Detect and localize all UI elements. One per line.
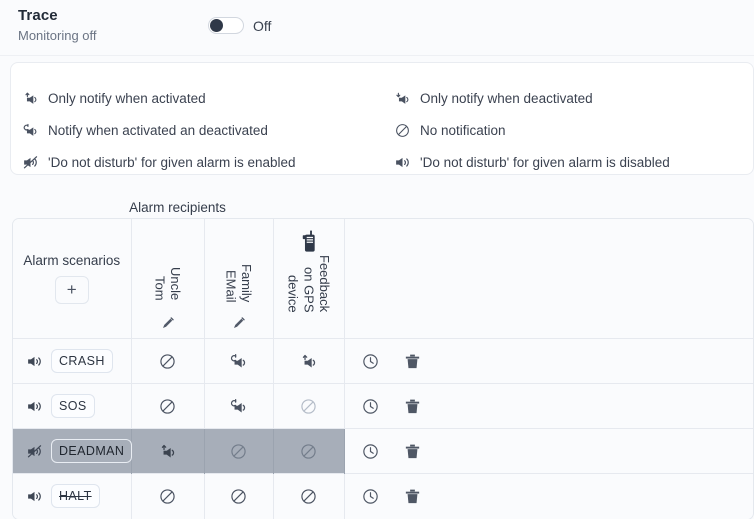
cell-uncle-tom[interactable] bbox=[131, 429, 204, 474]
edit-recipient-uncle-tom-icon[interactable] bbox=[160, 312, 176, 338]
legend-item-label: No notification bbox=[420, 123, 506, 138]
table-row[interactable]: SOS bbox=[13, 384, 754, 429]
cell-gps-device[interactable] bbox=[273, 429, 344, 474]
cell-scenario-name[interactable]: CRASH bbox=[13, 339, 131, 384]
edit-recipient-family-email-icon[interactable] bbox=[231, 312, 247, 338]
history-clock-icon[interactable] bbox=[361, 441, 381, 461]
alarm-recipients-caption: Alarm recipients bbox=[12, 200, 343, 215]
legend-item-label: 'Do not disturb' for given alarm is disa… bbox=[420, 155, 670, 170]
header-recipient-uncle-tom: Uncle Tom bbox=[131, 219, 204, 339]
no-notification-icon[interactable] bbox=[205, 429, 273, 473]
legend-item-notify-activated: Only notify when activated bbox=[21, 82, 393, 114]
table-body: CRASH bbox=[13, 339, 754, 519]
scenario-chip[interactable]: HALT bbox=[51, 484, 100, 508]
add-scenario-button[interactable]: + bbox=[55, 276, 89, 304]
notify-activated-icon[interactable] bbox=[274, 339, 344, 383]
no-notification-icon[interactable] bbox=[132, 474, 204, 519]
cell-gps-device[interactable] bbox=[273, 339, 344, 384]
delete-trash-icon[interactable] bbox=[403, 486, 423, 506]
no-notification-icon bbox=[393, 121, 411, 139]
cell-gps-device[interactable] bbox=[273, 474, 344, 519]
scenario-chip[interactable]: DEADMAN bbox=[51, 439, 132, 463]
speaker-on-icon bbox=[393, 153, 411, 171]
cell-actions bbox=[344, 474, 754, 519]
no-notification-icon[interactable] bbox=[274, 384, 344, 428]
speaker-on-icon[interactable] bbox=[25, 487, 43, 505]
header-recipient-label: Uncle Tom bbox=[152, 255, 183, 312]
legend-item-notify-deactivated: Only notify when deactivated bbox=[393, 82, 754, 114]
cell-family-email[interactable] bbox=[204, 474, 273, 519]
speaker-muted-icon bbox=[21, 153, 39, 171]
legend-column-right: Only notify when deactivated No notifica… bbox=[393, 63, 754, 174]
header-recipient-label: Feedback on GPS device bbox=[285, 255, 332, 312]
header-recipient-family-email: Family EMail bbox=[204, 219, 273, 339]
walkie-talkie-icon bbox=[298, 229, 320, 255]
cell-gps-device[interactable] bbox=[273, 384, 344, 429]
cell-uncle-tom[interactable] bbox=[131, 339, 204, 384]
trace-title: Trace bbox=[18, 7, 97, 24]
legend-item-no-notification: No notification bbox=[393, 114, 754, 146]
table-row[interactable]: CRASH bbox=[13, 339, 754, 384]
cell-scenario-name[interactable]: SOS bbox=[13, 384, 131, 429]
notify-deactivated-icon bbox=[393, 89, 411, 107]
notify-activated-icon bbox=[21, 89, 39, 107]
delete-trash-icon[interactable] bbox=[403, 441, 423, 461]
alarm-scenarios-table: Alarm scenarios + Uncle Tom bbox=[12, 218, 754, 519]
legend-item-dnd-enabled: 'Do not disturb' for given alarm is enab… bbox=[21, 146, 393, 178]
delete-trash-icon[interactable] bbox=[403, 351, 423, 371]
header-alarm-scenarios: Alarm scenarios + bbox=[13, 219, 131, 339]
cell-actions bbox=[344, 429, 754, 474]
legend-item-dnd-disabled: 'Do not disturb' for given alarm is disa… bbox=[393, 146, 754, 178]
header-recipient-label: Family EMail bbox=[223, 255, 254, 312]
trace-toggle[interactable] bbox=[208, 17, 244, 34]
legend-card: Only notify when activated Notify when a… bbox=[10, 62, 754, 175]
history-clock-icon[interactable] bbox=[361, 486, 381, 506]
no-notification-icon[interactable] bbox=[274, 429, 344, 473]
delete-trash-icon[interactable] bbox=[403, 396, 423, 416]
notify-activated-icon[interactable] bbox=[132, 429, 204, 473]
cell-actions bbox=[344, 339, 754, 384]
legend-item-label: 'Do not disturb' for given alarm is enab… bbox=[48, 155, 296, 170]
scenario-chip[interactable]: SOS bbox=[51, 394, 95, 418]
header-alarm-scenarios-label: Alarm scenarios bbox=[23, 253, 120, 270]
legend-item-label: Notify when activated an deactivated bbox=[48, 123, 268, 138]
trace-toggle-state-label: Off bbox=[253, 18, 271, 34]
cell-family-email[interactable] bbox=[204, 339, 273, 384]
trace-subtitle: Monitoring off bbox=[18, 28, 97, 43]
legend-item-label: Only notify when deactivated bbox=[420, 91, 593, 106]
scenario-chip[interactable]: CRASH bbox=[51, 349, 113, 373]
table-header-row: Alarm scenarios + Uncle Tom bbox=[13, 219, 754, 339]
no-notification-icon[interactable] bbox=[205, 474, 273, 519]
no-notification-icon[interactable] bbox=[274, 474, 344, 519]
history-clock-icon[interactable] bbox=[361, 351, 381, 371]
speaker-on-icon[interactable] bbox=[25, 397, 43, 415]
cell-family-email[interactable] bbox=[204, 429, 273, 474]
cell-actions bbox=[344, 384, 754, 429]
speaker-muted-icon[interactable] bbox=[25, 442, 43, 460]
no-notification-icon[interactable] bbox=[132, 384, 204, 428]
legend-item-notify-both: Notify when activated an deactivated bbox=[21, 114, 393, 146]
table-row[interactable]: HALT bbox=[13, 474, 754, 519]
header-actions bbox=[344, 219, 754, 339]
notify-activated-deactivated-icon bbox=[21, 121, 39, 139]
speaker-on-icon[interactable] bbox=[25, 352, 43, 370]
cell-uncle-tom[interactable] bbox=[131, 474, 204, 519]
trace-section: Trace Monitoring off Off bbox=[0, 0, 754, 56]
cell-uncle-tom[interactable] bbox=[131, 384, 204, 429]
cell-scenario-name[interactable]: DEADMAN bbox=[13, 429, 131, 474]
trace-toggle-group: Off bbox=[208, 17, 271, 34]
trace-toggle-knob bbox=[210, 19, 223, 32]
table-row[interactable]: DEADMAN bbox=[13, 429, 754, 474]
cell-scenario-name[interactable]: HALT bbox=[13, 474, 131, 519]
notify-activated-deactivated-icon[interactable] bbox=[205, 339, 273, 383]
legend-column-left: Only notify when activated Notify when a… bbox=[21, 63, 393, 174]
no-notification-icon[interactable] bbox=[132, 339, 204, 383]
legend-item-label: Only notify when activated bbox=[48, 91, 206, 106]
history-clock-icon[interactable] bbox=[361, 396, 381, 416]
header-recipient-gps-device: Feedback on GPS device bbox=[273, 219, 344, 339]
notify-activated-deactivated-icon[interactable] bbox=[205, 384, 273, 428]
trace-labels: Trace Monitoring off bbox=[18, 7, 97, 43]
cell-family-email[interactable] bbox=[204, 384, 273, 429]
